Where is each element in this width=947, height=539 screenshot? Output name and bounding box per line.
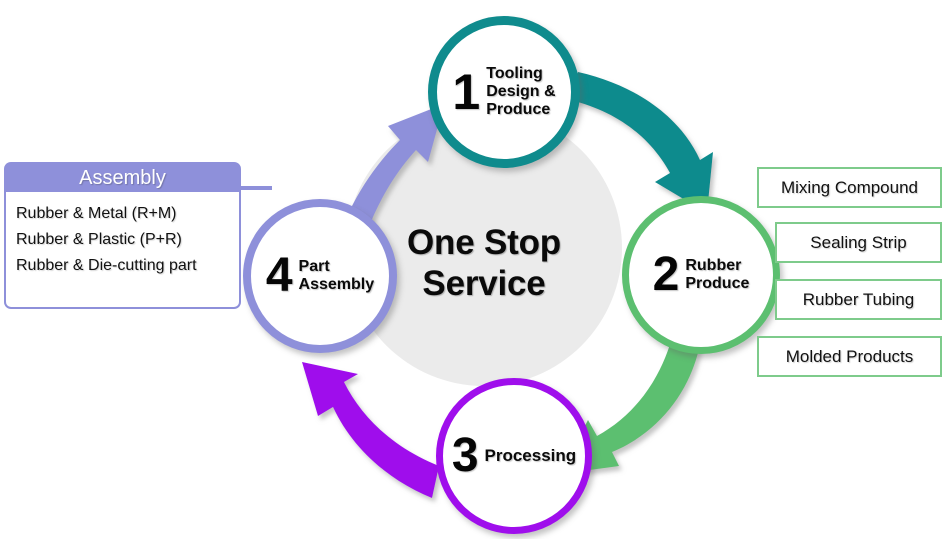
assembly-item-rubber-die-cutting: Rubber & Die-cutting part (16, 253, 239, 279)
node-2-label: Rubber Produce (685, 257, 749, 293)
diagram-canvas: 1 Tooling Design & Produce 2 Rubber Prod… (0, 0, 947, 539)
assembly-panel-body: Rubber & Metal (R+M) Rubber & Plastic (P… (4, 192, 241, 309)
product-box-mixing-compound[interactable]: Mixing Compound (757, 167, 942, 208)
center-title-line-2: Service (366, 263, 602, 304)
node-2-content: 2 Rubber Produce (629, 203, 773, 347)
arrow-processing-to-assembly (302, 362, 439, 498)
center-title-line-1: One Stop (366, 222, 602, 263)
node-processing[interactable]: 3 Processing (436, 378, 592, 534)
node-3-number: 3 (452, 432, 479, 480)
node-3-label: Processing (485, 446, 577, 465)
node-4-label: Part Assembly (299, 258, 375, 294)
assembly-item-rubber-plastic: Rubber & Plastic (P+R) (16, 227, 239, 253)
node-1-label: Tooling Design & Produce (486, 65, 555, 119)
node-1-number: 1 (452, 67, 480, 117)
node-2-number: 2 (653, 251, 680, 299)
page-title: One Stop Service (366, 222, 602, 305)
product-box-rubber-tubing[interactable]: Rubber Tubing (775, 279, 942, 320)
assembly-panel-header: Assembly (4, 162, 241, 194)
node-4-number: 4 (266, 252, 293, 300)
arrow-tooling-to-rubber (570, 72, 713, 213)
assembly-connector-line (236, 186, 272, 190)
product-box-sealing-strip[interactable]: Sealing Strip (775, 222, 942, 263)
assembly-panel: Assembly Rubber & Metal (R+M) Rubber & P… (4, 162, 241, 309)
node-1-content: 1 Tooling Design & Produce (437, 25, 571, 159)
node-tooling-design-produce[interactable]: 1 Tooling Design & Produce (428, 16, 580, 168)
product-box-molded-products[interactable]: Molded Products (757, 336, 942, 377)
node-rubber-produce[interactable]: 2 Rubber Produce (622, 196, 780, 354)
node-3-content: 3 Processing (443, 385, 585, 527)
assembly-item-rubber-metal: Rubber & Metal (R+M) (16, 201, 239, 227)
